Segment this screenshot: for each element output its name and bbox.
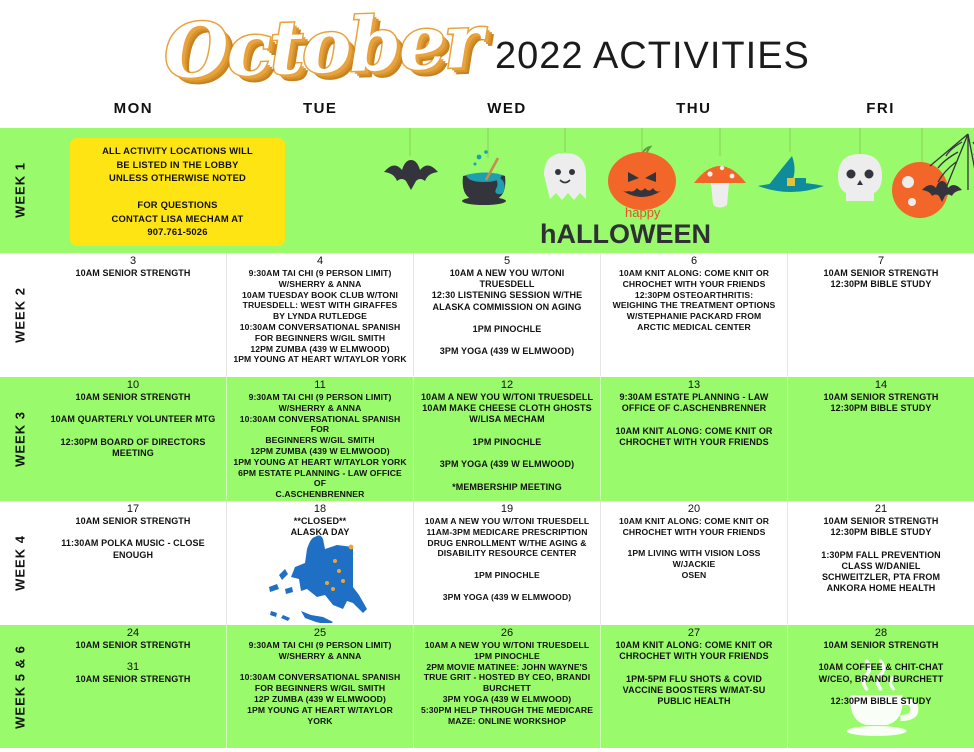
day-header-mon: MON xyxy=(40,100,227,128)
halloween-happy-text: happy xyxy=(625,205,660,220)
day-number: 25 xyxy=(231,627,409,639)
day-events: 10AM A NEW YOU W/TONI TRUESDELL 11AM-3PM… xyxy=(418,516,596,602)
cauldron-icon xyxy=(462,150,506,205)
day-number: 21 xyxy=(792,503,970,515)
day-number-31: 31 xyxy=(44,661,222,673)
day-events: 10AM KNIT ALONG: COME KNIT OR CHROCHET W… xyxy=(605,640,783,707)
day-events: 9:30AM TAI CHI (9 PERSON LIMIT) W/SHERRY… xyxy=(231,268,409,365)
halloween-word-text: hALLOWEEN xyxy=(540,219,711,250)
day-number: 5 xyxy=(418,255,596,267)
day-number: 13 xyxy=(605,379,783,391)
day-events: 10AM SENIOR STRENGTH xyxy=(44,640,222,651)
day-cell-20[interactable]: 20 10AM KNIT ALONG: COME KNIT OR CHROCHE… xyxy=(600,501,787,624)
day-events: 10AM A NEW YOU W/TONI TRUESDELL 10AM MAK… xyxy=(418,392,596,493)
day-cell-12[interactable]: 12 10AM A NEW YOU W/TONI TRUESDELL 10AM … xyxy=(413,377,600,500)
day-events: 10AM SENIOR STRENGTH 11:30AM POLKA MUSIC… xyxy=(44,516,222,561)
week-3-cells: 10 10AM SENIOR STRENGTH 10AM QUARTERLY V… xyxy=(40,377,974,500)
week-1-content: ALL ACTIVITY LOCATIONS WILL BE LISTED IN… xyxy=(40,128,974,252)
day-events: **CLOSED** ALASKA DAY xyxy=(231,516,409,538)
week-row-1: WEEK 1 ALL ACTIVITY LOCATIONS WILL BE LI… xyxy=(0,128,974,252)
day-events: 10AM KNIT ALONG: COME KNIT OR CHROCHET W… xyxy=(605,516,783,581)
week-label-3: WEEK 3 xyxy=(0,377,40,500)
page-header: October 2022 ACTIVITIES xyxy=(0,0,974,100)
week-2-cells: 3 10AM SENIOR STRENGTH 4 9:30AM TAI CHI … xyxy=(40,253,974,376)
day-header-thu: THU xyxy=(600,100,787,128)
week-label-4: WEEK 4 xyxy=(0,501,40,624)
day-cell-25[interactable]: 25 9:30AM TAI CHI (9 PERSON LIMIT) W/SHE… xyxy=(226,625,413,748)
day-number: 20 xyxy=(605,503,783,515)
day-number: 12 xyxy=(418,379,596,391)
day-cell-13[interactable]: 13 9:30AM ESTATE PLANNING - LAW OFFICE O… xyxy=(600,377,787,500)
week-row-4: WEEK 4 17 10AM SENIOR STRENGTH 11:30AM P… xyxy=(0,500,974,624)
day-cell-5[interactable]: 5 10AM A NEW YOU W/TONI TRUESDELL 12:30 … xyxy=(413,253,600,376)
day-events-31: 10AM SENIOR STRENGTH xyxy=(44,674,222,685)
halloween-banner: happy hALLOWEEN xyxy=(360,128,974,252)
day-cell-17[interactable]: 17 10AM SENIOR STRENGTH 11:30AM POLKA MU… xyxy=(40,501,226,624)
day-header-row: MON TUE WED THU FRI xyxy=(40,100,974,128)
weeks-grid: WEEK 1 ALL ACTIVITY LOCATIONS WILL BE LI… xyxy=(0,128,974,748)
day-header-wed: WED xyxy=(414,100,601,128)
announcement-note: ALL ACTIVITY LOCATIONS WILL BE LISTED IN… xyxy=(70,138,285,246)
day-events: 10AM SENIOR STRENGTH xyxy=(44,268,222,279)
day-events: 10AM SENIOR STRENGTH 12:30PM BIBLE STUDY… xyxy=(792,516,970,594)
week-row-3: WEEK 3 10 10AM SENIOR STRENGTH 10AM QUAR… xyxy=(0,376,974,500)
day-events: 10AM SENIOR STRENGTH 10AM QUARTERLY VOLU… xyxy=(44,392,222,459)
day-cell-27[interactable]: 27 10AM KNIT ALONG: COME KNIT OR CHROCHE… xyxy=(600,625,787,748)
day-number: 27 xyxy=(605,627,783,639)
day-cell-6[interactable]: 6 10AM KNIT ALONG: COME KNIT OR CHROCHET… xyxy=(600,253,787,376)
day-events: 10AM A NEW YOU W/TONI TRUESDELL 12:30 LI… xyxy=(418,268,596,358)
week-label-1: WEEK 1 xyxy=(0,128,40,252)
week-label-1-text: WEEK 1 xyxy=(13,162,28,218)
day-cell-19[interactable]: 19 10AM A NEW YOU W/TONI TRUESDELL 11AM-… xyxy=(413,501,600,624)
week-label-4-text: WEEK 4 xyxy=(13,535,28,591)
day-events: 9:30AM TAI CHI (9 PERSON LIMIT) W/SHERRY… xyxy=(231,640,409,726)
week-label-2: WEEK 2 xyxy=(0,253,40,376)
page-title: 2022 ACTIVITIES xyxy=(495,35,810,78)
ghost-icon xyxy=(544,153,586,200)
day-number: 18 xyxy=(231,503,409,515)
alaska-map-icon xyxy=(255,531,385,623)
day-cell-21[interactable]: 21 10AM SENIOR STRENGTH 12:30PM BIBLE ST… xyxy=(787,501,974,624)
week-label-2-text: WEEK 2 xyxy=(13,287,28,343)
day-cell-18[interactable]: 18 **CLOSED** ALASKA DAY xyxy=(226,501,413,624)
day-number: 3 xyxy=(44,255,222,267)
witch-hat-icon xyxy=(758,156,824,192)
day-number: 6 xyxy=(605,255,783,267)
toadstool-icon xyxy=(694,166,746,208)
day-number: 24 xyxy=(44,627,222,639)
day-number: 14 xyxy=(792,379,970,391)
day-events: 9:30AM ESTATE PLANNING - LAW OFFICE OF C… xyxy=(605,392,783,448)
day-events: 10AM SENIOR STRENGTH 10AM COFFEE & CHIT-… xyxy=(792,640,970,707)
day-events: 10AM KNIT ALONG: COME KNIT OR CHROCHET W… xyxy=(605,268,783,333)
day-number: 7 xyxy=(792,255,970,267)
week-4-cells: 17 10AM SENIOR STRENGTH 11:30AM POLKA MU… xyxy=(40,501,974,624)
pumpkin-bat-icon xyxy=(892,162,962,218)
skull-icon xyxy=(838,154,882,201)
bat-icon xyxy=(384,160,438,190)
day-cell-28[interactable]: 28 10AM SENIOR STRENGTH 10AM COFFEE & CH… xyxy=(787,625,974,748)
day-cell-3[interactable]: 3 10AM SENIOR STRENGTH xyxy=(40,253,226,376)
week-label-3-text: WEEK 3 xyxy=(13,411,28,467)
day-number: 26 xyxy=(418,627,596,639)
day-events: 10AM SENIOR STRENGTH 12:30PM BIBLE STUDY xyxy=(792,392,970,414)
day-cell-4[interactable]: 4 9:30AM TAI CHI (9 PERSON LIMIT) W/SHER… xyxy=(226,253,413,376)
week-5-cells: 24 10AM SENIOR STRENGTH 31 10AM SENIOR S… xyxy=(40,625,974,748)
day-cell-10[interactable]: 10 10AM SENIOR STRENGTH 10AM QUARTERLY V… xyxy=(40,377,226,500)
day-events: 9:30AM TAI CHI (9 PERSON LIMIT) W/SHERRY… xyxy=(231,392,409,500)
pumpkin-icon xyxy=(608,147,676,210)
week-row-2: WEEK 2 3 10AM SENIOR STRENGTH 4 9:30AM T… xyxy=(0,252,974,376)
day-number: 17 xyxy=(44,503,222,515)
week-label-5-text: WEEK 5 & 6 xyxy=(13,645,28,729)
day-cell-14[interactable]: 14 10AM SENIOR STRENGTH 12:30PM BIBLE ST… xyxy=(787,377,974,500)
week-row-5: WEEK 5 & 6 24 10AM SENIOR STRENGTH 31 10… xyxy=(0,624,974,748)
day-header-tue: TUE xyxy=(227,100,414,128)
month-title: October xyxy=(163,4,482,89)
day-events: 10AM SENIOR STRENGTH 12:30PM BIBLE STUDY xyxy=(792,268,970,290)
day-number: 4 xyxy=(231,255,409,267)
calendar-page: October 2022 ACTIVITIES MON TUE WED THU … xyxy=(0,0,974,752)
day-cell-11[interactable]: 11 9:30AM TAI CHI (9 PERSON LIMIT) W/SHE… xyxy=(226,377,413,500)
day-events: 10AM A NEW YOU W/TONI TRUESDELL 1PM PINO… xyxy=(418,640,596,726)
day-cell-24[interactable]: 24 10AM SENIOR STRENGTH 31 10AM SENIOR S… xyxy=(40,625,226,748)
day-number: 11 xyxy=(231,379,409,391)
day-cell-7[interactable]: 7 10AM SENIOR STRENGTH 12:30PM BIBLE STU… xyxy=(787,253,974,376)
day-cell-26[interactable]: 26 10AM A NEW YOU W/TONI TRUESDELL 1PM P… xyxy=(413,625,600,748)
week-label-5: WEEK 5 & 6 xyxy=(0,625,40,748)
day-number: 10 xyxy=(44,379,222,391)
day-number: 19 xyxy=(418,503,596,515)
day-number: 28 xyxy=(792,627,970,639)
day-header-fri: FRI xyxy=(787,100,974,128)
